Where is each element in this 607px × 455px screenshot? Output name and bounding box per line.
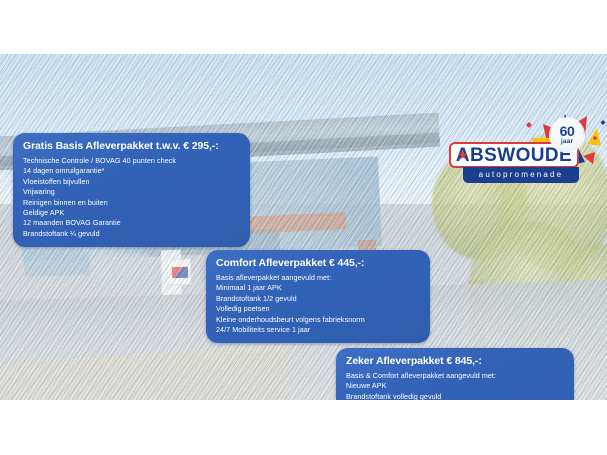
package-feature-list-zeker: Basis & Comfort afleverpakket aangevuld … bbox=[346, 371, 564, 400]
package-feature: Vrijwaring bbox=[23, 187, 240, 197]
parked-car bbox=[24, 249, 91, 277]
package-feature: Kleine onderhoudsbeurt volgens fabrieksn… bbox=[216, 315, 420, 325]
package-feature: Basis afleverpakket aangevuld met: bbox=[216, 273, 420, 283]
package-feature: Volledig poetsen bbox=[216, 304, 420, 314]
package-feature: Geldige APK bbox=[23, 208, 240, 218]
package-feature: Brandstoftank ¼ gevuld bbox=[23, 229, 240, 239]
logo-star-icon bbox=[458, 150, 468, 160]
package-title-basis: Gratis Basis Afleverpakket t.w.v. € 295,… bbox=[23, 140, 240, 153]
package-feature-list-basis: Technische Controle / BOVAG 40 punten ch… bbox=[23, 156, 240, 239]
logo-tagline: autopromenade bbox=[479, 171, 564, 179]
package-feature: Reinigen binnen en buiten bbox=[23, 198, 240, 208]
dealership-photo-banner: Gratis Basis Afleverpakket t.w.v. € 295,… bbox=[0, 54, 607, 400]
parked-car bbox=[96, 253, 155, 277]
package-feature: 14 dagen omruilgarantie* bbox=[23, 166, 240, 176]
anniversary-unit: jaar bbox=[561, 138, 573, 145]
package-feature-list-comfort: Basis afleverpakket aangevuld met: Minim… bbox=[216, 273, 420, 335]
abswoude-logo[interactable]: ABSWOUDE autopromenade 60 jaar bbox=[449, 112, 607, 190]
package-feature: 24/7 Mobiliteits service 1 jaar bbox=[216, 325, 420, 335]
logo-tagline-bar: autopromenade bbox=[463, 167, 579, 183]
package-panel-basis[interactable]: Gratis Basis Afleverpakket t.w.v. € 295,… bbox=[13, 133, 250, 247]
package-feature: Brandstoftank 1/2 gevuld bbox=[216, 294, 420, 304]
package-feature: Basis & Comfort afleverpakket aangevuld … bbox=[346, 371, 564, 381]
package-feature: 12 maanden BOVAG Garantie bbox=[23, 218, 240, 228]
package-feature: Vloeistoffen bijvullen bbox=[23, 177, 240, 187]
package-feature: Brandstoftank volledig gevuld bbox=[346, 392, 564, 400]
package-panel-comfort[interactable]: Comfort Afleverpakket € 445,-: Basis afl… bbox=[206, 250, 430, 343]
package-feature: Technische Controle / BOVAG 40 punten ch… bbox=[23, 156, 240, 166]
package-feature: Minimaal 1 jaar APK bbox=[216, 283, 420, 293]
logo-wordmark: ABSWOUDE bbox=[456, 146, 572, 165]
package-panel-zeker[interactable]: Zeker Afleverpakket € 845,-: Basis & Com… bbox=[336, 348, 574, 400]
package-feature: Nieuwe APK bbox=[346, 381, 564, 391]
bovag-sign-icon bbox=[167, 259, 192, 286]
package-title-comfort: Comfort Afleverpakket € 445,-: bbox=[216, 257, 420, 270]
package-title-zeker: Zeker Afleverpakket € 845,-: bbox=[346, 355, 564, 368]
anniversary-number: 60 bbox=[560, 125, 575, 138]
anniversary-badge: 60 jaar bbox=[550, 118, 584, 152]
poster-root: Gratis Basis Afleverpakket t.w.v. € 295,… bbox=[0, 0, 607, 455]
